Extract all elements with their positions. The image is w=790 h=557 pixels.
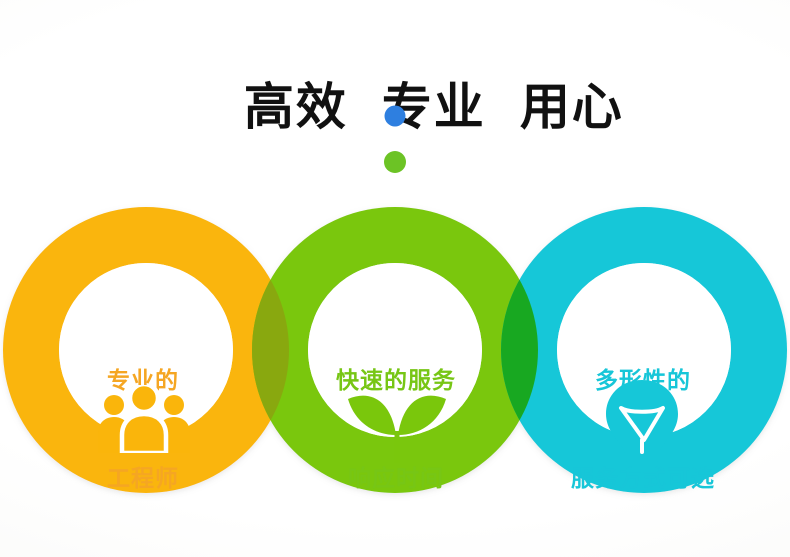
people-icon: [96, 385, 192, 453]
lightbulb-icon: [604, 380, 680, 472]
circle-label-engineers-line2: 工程师: [33, 463, 253, 496]
leaf-sprout-icon: [345, 375, 449, 463]
infographic-canvas: 高效专业用心: [0, 0, 790, 557]
circle-label-response-time-line2: 响应时间: [286, 463, 506, 496]
